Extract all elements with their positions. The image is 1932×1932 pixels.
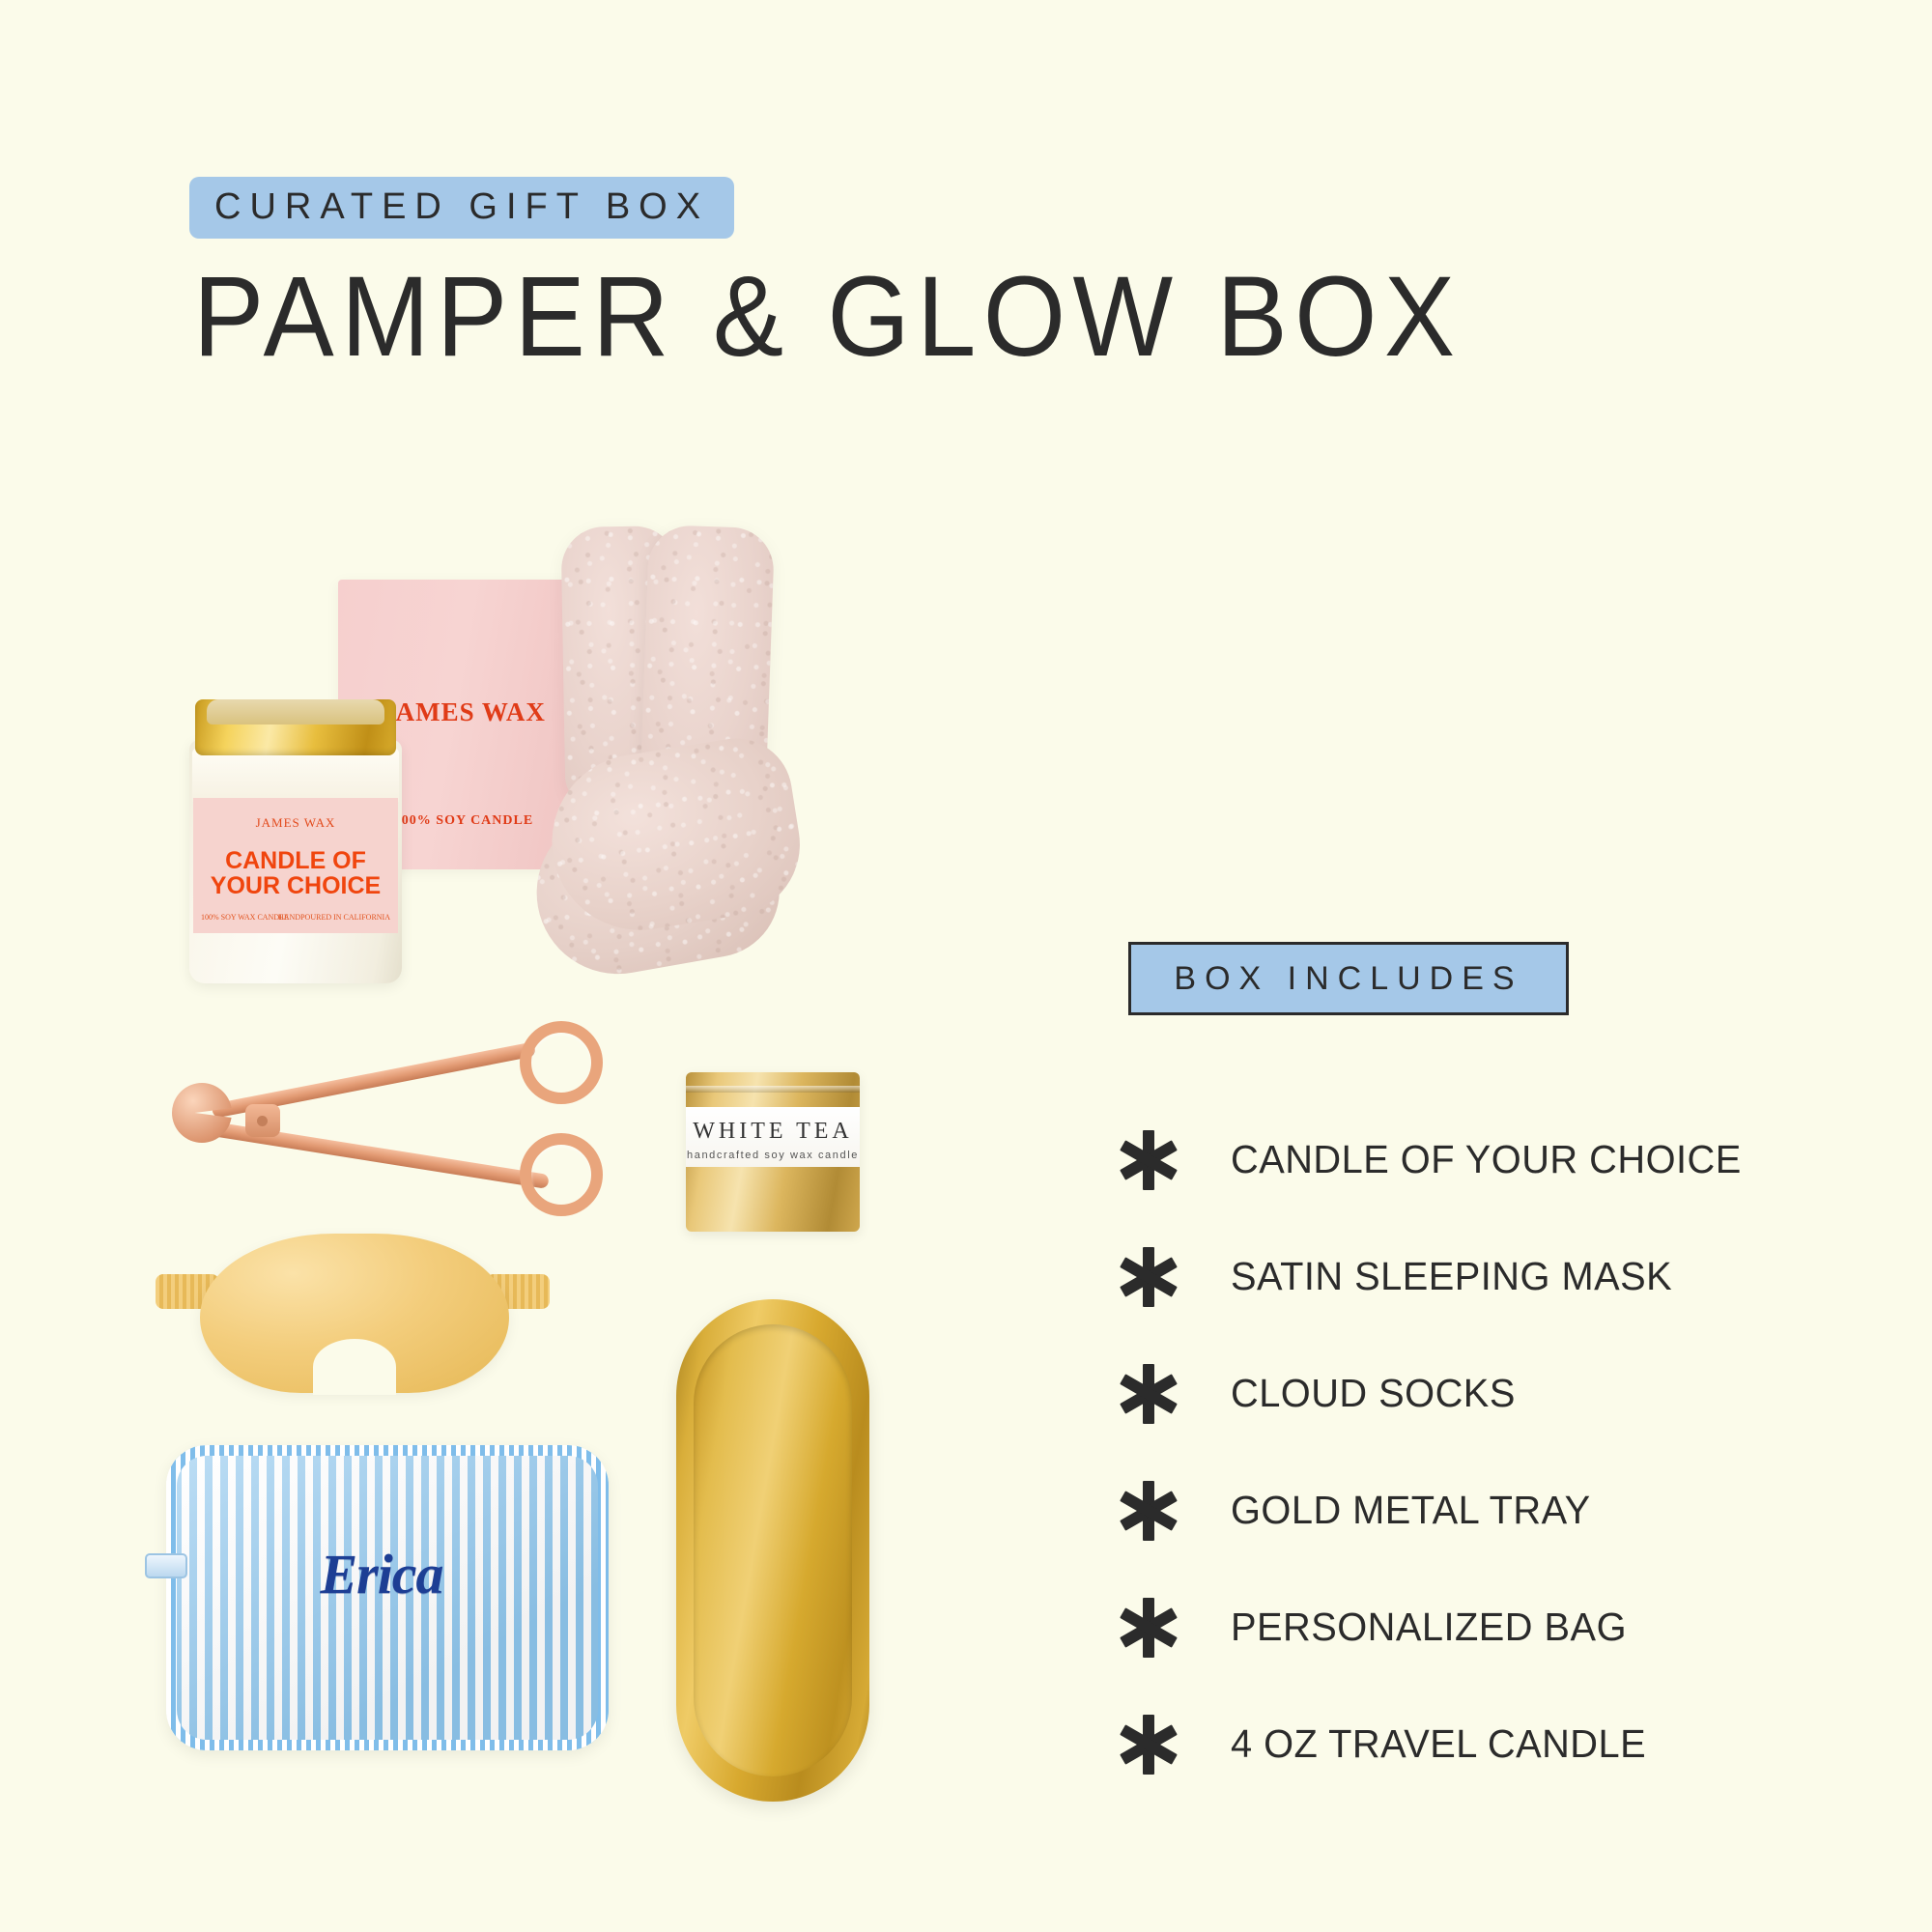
jar-lid-top	[207, 699, 384, 724]
list-item: CLOUD SOCKS	[1119, 1335, 1853, 1452]
box-includes-badge: BOX INCLUDES	[1128, 942, 1569, 1015]
asterisk-icon	[1119, 1715, 1179, 1775]
asterisk-icon	[1119, 1247, 1179, 1307]
poster-canvas: CURATED GIFT BOX PAMPER & GLOW BOX JAMES…	[0, 0, 1932, 1932]
trimmer-pivot-screw	[245, 1104, 280, 1137]
list-item-label: GOLD METAL TRAY	[1231, 1488, 1591, 1533]
tin-label: WHITE TEA handcrafted soy wax candle	[686, 1107, 860, 1167]
product-travel-candle-tin: WHITE TEA handcrafted soy wax candle	[686, 1072, 860, 1232]
jar-footnote-right: HANDPOURED IN CALIFORNIA	[278, 913, 390, 922]
jar-wax	[192, 748, 399, 802]
list-item: PERSONALIZED BAG	[1119, 1569, 1853, 1686]
list-item-label: CANDLE OF YOUR CHOICE	[1231, 1137, 1742, 1182]
asterisk-icon	[1119, 1130, 1179, 1190]
box-includes-list: CANDLE OF YOUR CHOICE SATIN SLEEPING MAS…	[1119, 1101, 1853, 1803]
list-item-label: PERSONALIZED BAG	[1231, 1605, 1627, 1650]
tin-rim	[686, 1086, 860, 1093]
jar-label-brand: JAMES WAX	[193, 815, 398, 831]
list-item: CANDLE OF YOUR CHOICE	[1119, 1101, 1853, 1218]
product-gold-tray	[676, 1299, 869, 1802]
tin-descriptor: handcrafted soy wax candle	[686, 1150, 860, 1161]
product-cloud-socks	[546, 526, 840, 1063]
product-wick-trimmer	[155, 1029, 609, 1236]
list-item: GOLD METAL TRAY	[1119, 1452, 1853, 1569]
jar-headline-line1: CANDLE OF	[193, 848, 398, 873]
list-item: SATIN SLEEPING MASK	[1119, 1218, 1853, 1335]
list-item-label: SATIN SLEEPING MASK	[1231, 1254, 1672, 1299]
trimmer-handle-ring-upper	[520, 1021, 603, 1104]
product-sleeping-mask	[150, 1232, 555, 1410]
asterisk-icon	[1119, 1364, 1179, 1424]
jar-gold-lid	[195, 699, 396, 755]
product-personalized-bag: Erica	[145, 1439, 618, 1758]
jar-footnote-left: 100% SOY WAX CANDLE	[201, 913, 289, 922]
asterisk-icon	[1119, 1598, 1179, 1658]
product-candle-jar: JAMES WAX CANDLE OF YOUR CHOICE 100% SOY…	[189, 694, 402, 983]
asterisk-icon	[1119, 1481, 1179, 1541]
mask-satin-pad	[200, 1234, 509, 1393]
list-item-label: CLOUD SOCKS	[1231, 1371, 1516, 1416]
jar-headline-line2: YOUR CHOICE	[193, 873, 398, 898]
jar-label: JAMES WAX CANDLE OF YOUR CHOICE 100% SOY…	[193, 798, 398, 933]
eyebrow-badge: CURATED GIFT BOX	[189, 177, 734, 239]
bag-embroidered-name: Erica	[145, 1542, 618, 1606]
page-title: PAMPER & GLOW BOX	[193, 246, 1463, 389]
tin-scent-name: WHITE TEA	[686, 1119, 860, 1145]
trimmer-handle-ring-lower	[520, 1133, 603, 1216]
tray-inner-well	[694, 1324, 852, 1776]
jar-label-headline: CANDLE OF YOUR CHOICE	[193, 848, 398, 899]
list-item: 4 OZ TRAVEL CANDLE	[1119, 1686, 1853, 1803]
list-item-label: 4 OZ TRAVEL CANDLE	[1231, 1721, 1646, 1767]
